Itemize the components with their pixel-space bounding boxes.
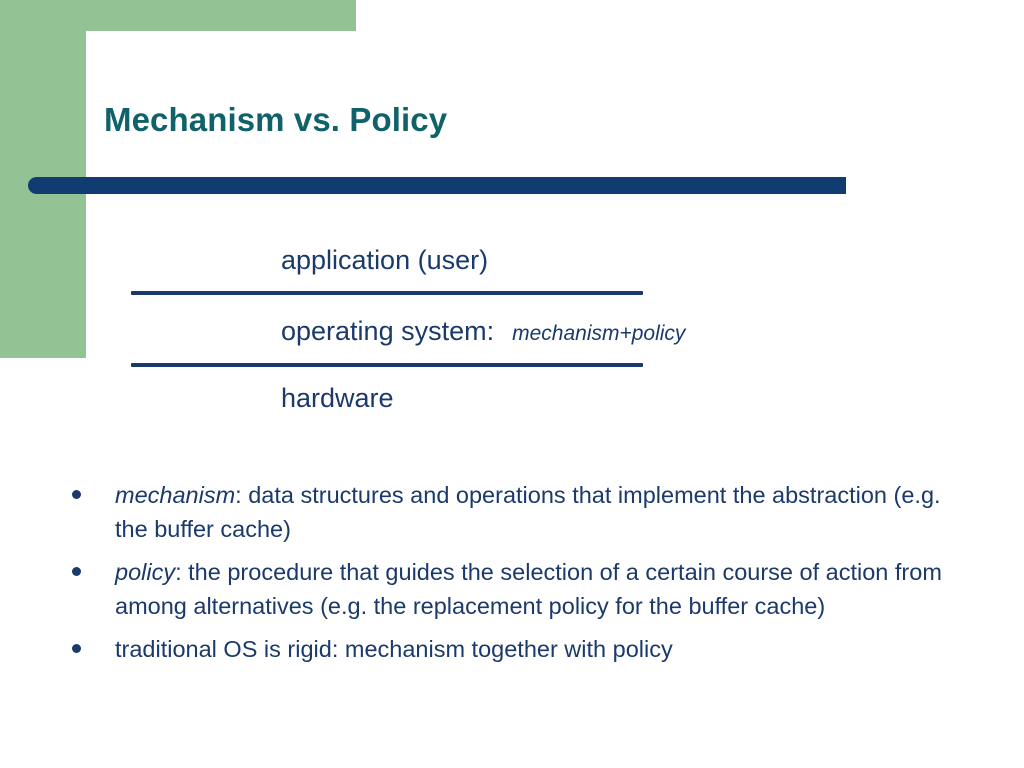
bullet-term-mechanism: mechanism [115, 482, 235, 508]
diagram-label-hardware: hardware [281, 383, 394, 414]
bullet-item-policy: policy: the procedure that guides the se… [64, 555, 994, 623]
diagram-label-operating-system: operating system: [281, 316, 494, 347]
bullet-list: mechanism: data structures and operation… [64, 478, 994, 675]
bullet-text-traditional-os: traditional OS is rigid: mechanism toget… [115, 636, 673, 662]
diagram-row-application: application (user) [131, 245, 851, 276]
green-top-bar-decoration [0, 0, 356, 31]
diagram-label-application: application (user) [281, 245, 488, 276]
layer-stack-diagram: application (user) operating system: mec… [131, 245, 851, 414]
bullet-point-icon [72, 644, 81, 653]
diagram-divider-lower [131, 363, 643, 367]
diagram-row-operating-system: operating system: mechanism+policy [131, 316, 851, 347]
bullet-text-mechanism: : data structures and operations that im… [115, 482, 941, 542]
slide-title: Mechanism vs. Policy [104, 101, 447, 139]
bullet-item-traditional-os: traditional OS is rigid: mechanism toget… [64, 632, 994, 666]
bullet-term-policy: policy [115, 559, 175, 585]
bullet-text-policy: : the procedure that guides the selectio… [115, 559, 942, 619]
title-underline-bar-decoration [28, 177, 846, 194]
diagram-annotation-mechanism-policy: mechanism+policy [512, 322, 685, 346]
bullet-point-icon [72, 490, 81, 499]
slide-canvas: Mechanism vs. Policy application (user) … [0, 0, 1024, 768]
diagram-divider-upper [131, 291, 643, 295]
diagram-row-hardware: hardware [131, 383, 851, 414]
bullet-item-mechanism: mechanism: data structures and operation… [64, 478, 965, 546]
bullet-point-icon [72, 567, 81, 576]
